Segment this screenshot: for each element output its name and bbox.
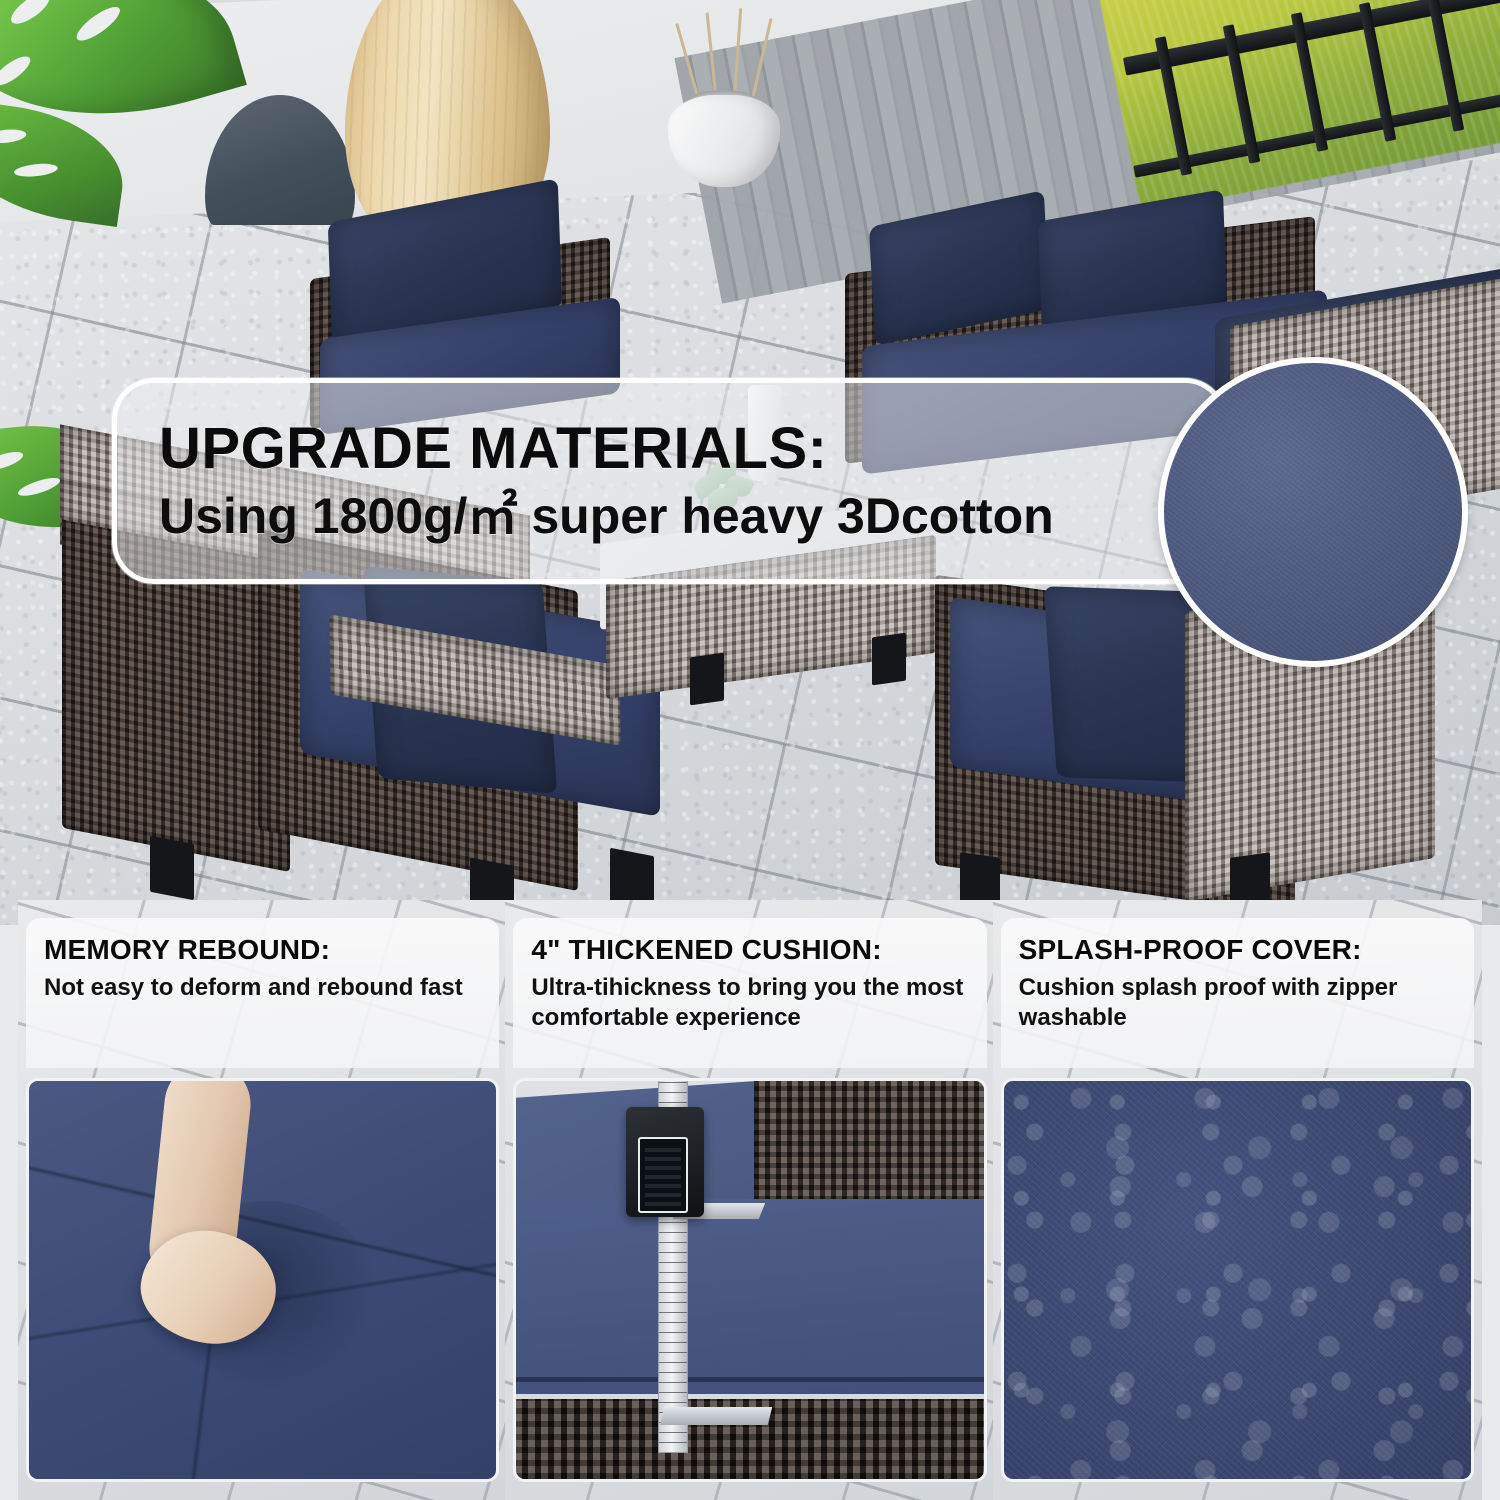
feature-title: MEMORY REBOUND:	[44, 934, 481, 966]
furniture-foot	[150, 836, 194, 901]
coffee-table-foot	[872, 633, 906, 686]
feature-columns: MEMORY REBOUND: Not easy to deform and r…	[0, 900, 1500, 1500]
coffee-table-foot	[690, 653, 724, 706]
feature-column-splash-proof: SPLASH-PROOF COVER: Cushion splash proof…	[1001, 900, 1474, 1500]
caliper-lcd-display	[638, 1137, 688, 1213]
caliper-lower-jaw	[660, 1407, 772, 1425]
caliper-measuring-cushion-photo	[513, 1078, 986, 1482]
feature-column-memory-rebound: MEMORY REBOUND: Not easy to deform and r…	[26, 900, 499, 1500]
fist-pressing-cushion-photo	[26, 1078, 499, 1482]
feature-column-thickened-cushion: 4" THICKENED CUSHION: Ultra-tihickness t…	[513, 900, 986, 1500]
feature-title: SPLASH-PROOF COVER:	[1019, 934, 1456, 966]
feature-description: Ultra-tihickness to bring you the most c…	[531, 973, 968, 1033]
feature-title: 4" THICKENED CUSHION:	[531, 934, 968, 966]
banner-subtitle: Using 1800g/㎡ super heavy 3Dcotton	[159, 490, 1222, 543]
feature-caption: 4" THICKENED CUSHION: Ultra-tihickness t…	[513, 918, 986, 1068]
fabric-closeup-circle	[1158, 357, 1468, 667]
feature-caption: MEMORY REBOUND: Not easy to deform and r…	[26, 918, 499, 1068]
feature-description: Not easy to deform and rebound fast	[44, 973, 481, 1003]
upgrade-materials-banner: UPGRADE MATERIALS: Using 1800g/㎡ super h…	[112, 378, 1227, 584]
feature-caption: SPLASH-PROOF COVER: Cushion splash proof…	[1001, 918, 1474, 1068]
infographic-canvas: UPGRADE MATERIALS: Using 1800g/㎡ super h…	[0, 0, 1500, 1500]
feature-description: Cushion splash proof with zipper washabl…	[1019, 973, 1456, 1033]
banner-title: UPGRADE MATERIALS:	[159, 419, 1222, 478]
water-droplets-on-fabric-photo	[1001, 1078, 1474, 1482]
wicker-backrest	[754, 1081, 984, 1201]
fabric-weave-texture	[1004, 1081, 1471, 1479]
